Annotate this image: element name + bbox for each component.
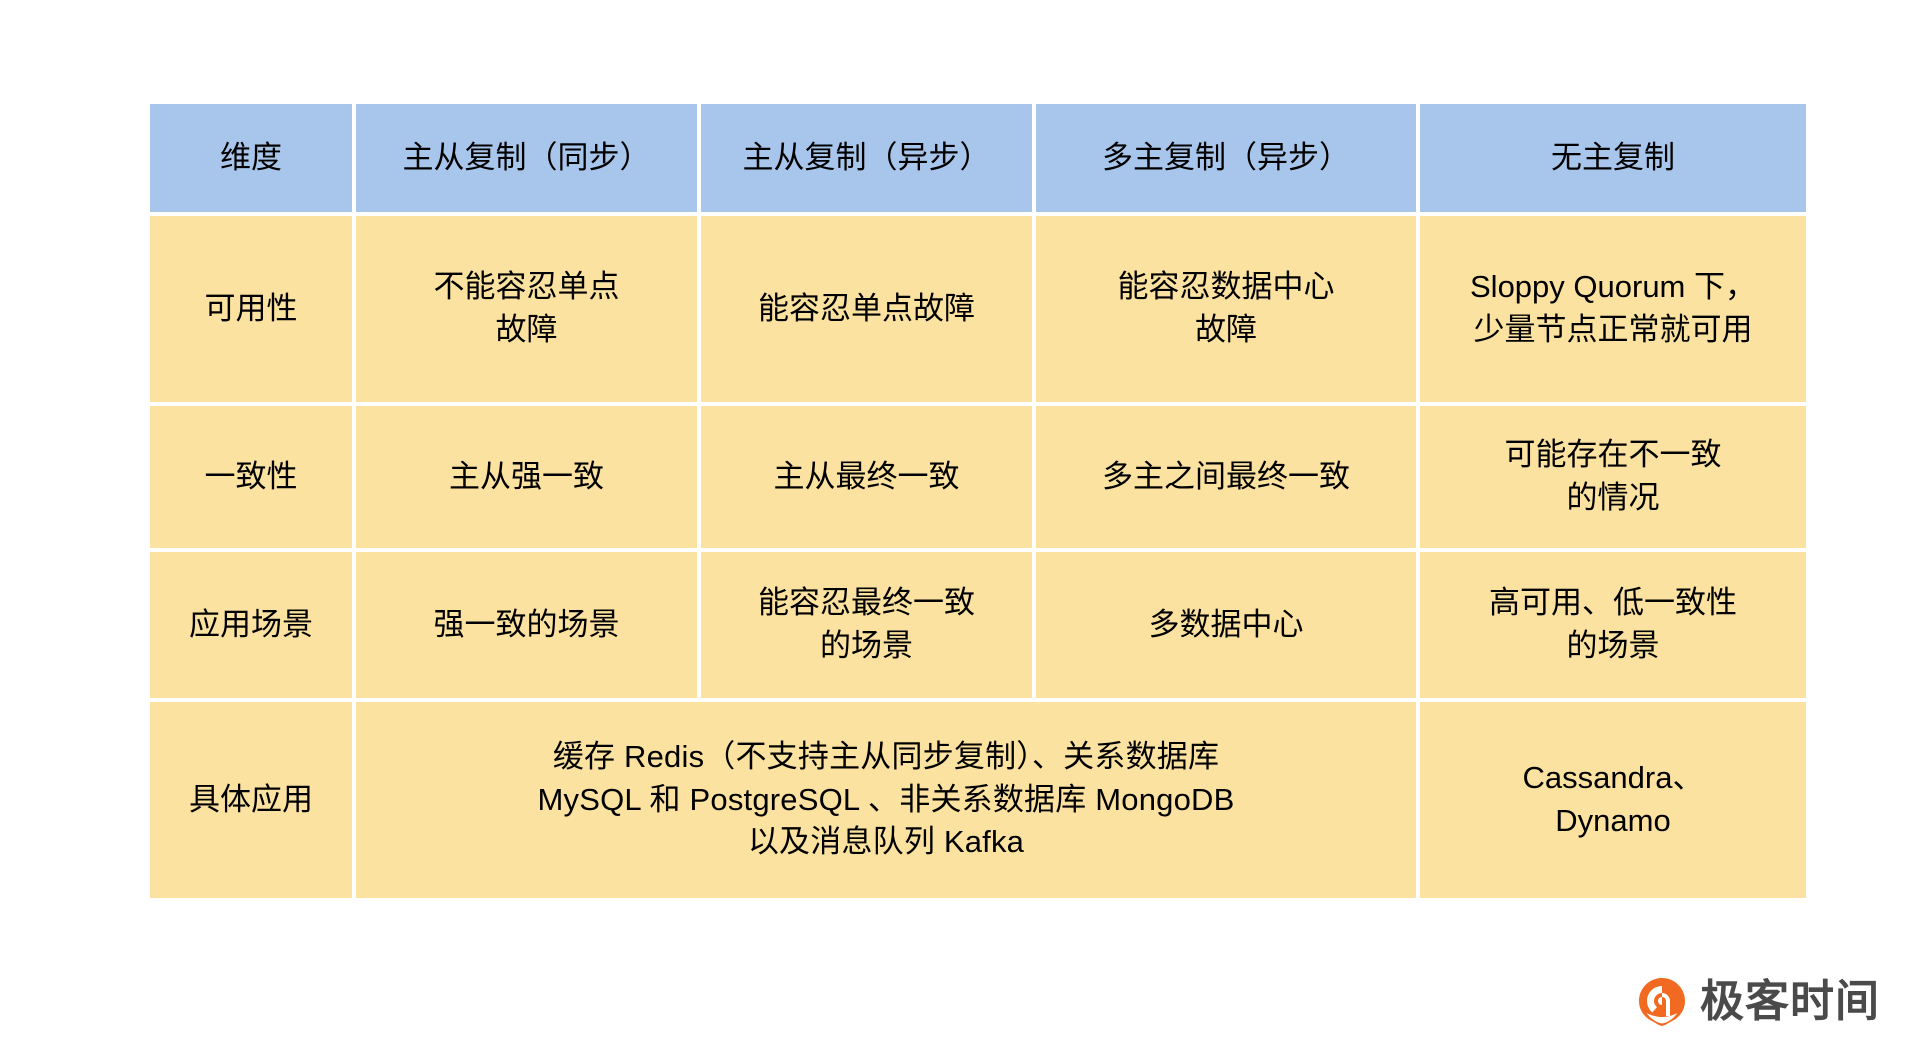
column-header-leaderless: 无主复制: [1420, 104, 1806, 212]
table-row-availability: 可用性 不能容忍单点故障 能容忍单点故障 能容忍数据中心故障 Sloppy Qu…: [150, 216, 1806, 402]
geekbang-logo-icon: [1636, 976, 1688, 1028]
cell-implementations-merged: 缓存 Redis（不支持主从同步复制）、关系数据库MySQL 和 Postgre…: [356, 702, 1416, 898]
cell-availability-leader-sync: 不能容忍单点故障: [356, 216, 697, 402]
row-label-implementations: 具体应用: [150, 702, 352, 898]
cell-use-cases-leader-async: 能容忍最终一致的场景: [701, 552, 1032, 698]
brand-logo: 极客时间: [1636, 976, 1880, 1028]
replication-comparison-table: 维度 主从复制（同步） 主从复制（异步） 多主复制（异步） 无主复制 可用性 不…: [146, 100, 1810, 902]
row-label-use-cases: 应用场景: [150, 552, 352, 698]
column-header-leader-async: 主从复制（异步）: [701, 104, 1032, 212]
table-row-implementations: 具体应用 缓存 Redis（不支持主从同步复制）、关系数据库MySQL 和 Po…: [150, 702, 1806, 898]
cell-consistency-leaderless: 可能存在不一致的情况: [1420, 406, 1806, 548]
cell-implementations-leaderless: Cassandra、Dynamo: [1420, 702, 1806, 898]
row-label-availability: 可用性: [150, 216, 352, 402]
comparison-table-container: 维度 主从复制（同步） 主从复制（异步） 多主复制（异步） 无主复制 可用性 不…: [146, 100, 1794, 902]
cell-consistency-leader-async: 主从最终一致: [701, 406, 1032, 548]
cell-availability-leader-async: 能容忍单点故障: [701, 216, 1032, 402]
cell-consistency-leader-sync: 主从强一致: [356, 406, 697, 548]
cell-use-cases-leader-sync: 强一致的场景: [356, 552, 697, 698]
column-header-dimension: 维度: [150, 104, 352, 212]
cell-consistency-multi-leader: 多主之间最终一致: [1036, 406, 1416, 548]
cell-availability-leaderless: Sloppy Quorum 下，少量节点正常就可用: [1420, 216, 1806, 402]
cell-use-cases-multi-leader: 多数据中心: [1036, 552, 1416, 698]
brand-name: 极客时间: [1700, 980, 1880, 1024]
column-header-multi-leader-async: 多主复制（异步）: [1036, 104, 1416, 212]
table-header-row: 维度 主从复制（同步） 主从复制（异步） 多主复制（异步） 无主复制: [150, 104, 1806, 212]
slide-canvas: 维度 主从复制（同步） 主从复制（异步） 多主复制（异步） 无主复制 可用性 不…: [0, 0, 1920, 1050]
cell-availability-multi-leader: 能容忍数据中心故障: [1036, 216, 1416, 402]
table-body: 可用性 不能容忍单点故障 能容忍单点故障 能容忍数据中心故障 Sloppy Qu…: [150, 216, 1806, 898]
table-row-use-cases: 应用场景 强一致的场景 能容忍最终一致的场景 多数据中心 高可用、低一致性的场景: [150, 552, 1806, 698]
row-label-consistency: 一致性: [150, 406, 352, 548]
table-row-consistency: 一致性 主从强一致 主从最终一致 多主之间最终一致 可能存在不一致的情况: [150, 406, 1806, 548]
table-header: 维度 主从复制（同步） 主从复制（异步） 多主复制（异步） 无主复制: [150, 104, 1806, 212]
column-header-leader-sync: 主从复制（同步）: [356, 104, 697, 212]
cell-use-cases-leaderless: 高可用、低一致性的场景: [1420, 552, 1806, 698]
